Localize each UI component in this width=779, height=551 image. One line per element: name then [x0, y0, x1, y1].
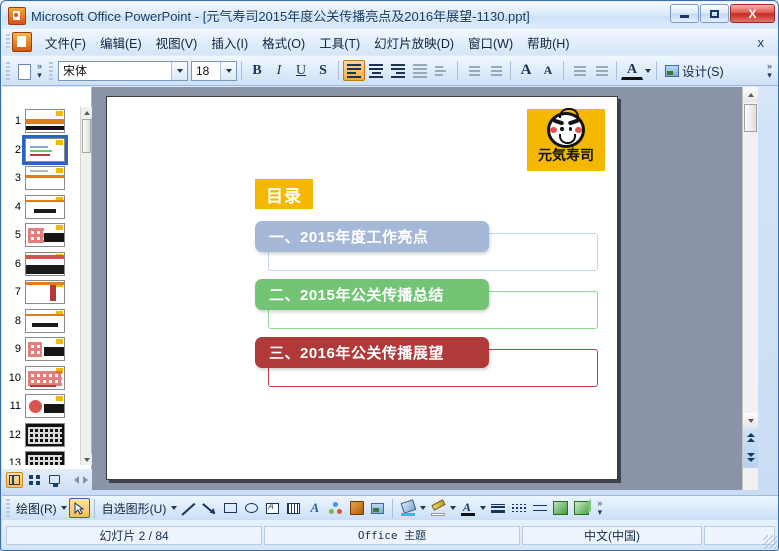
- list-item[interactable]: 8: [2, 307, 80, 336]
- slide-show-button[interactable]: [46, 472, 63, 488]
- list-item[interactable]: 4: [2, 193, 80, 222]
- title-bar: Microsoft Office PowerPoint - [元气寿司2015年…: [2, 2, 779, 29]
- toolbar-overflow-standard-icon[interactable]: »▾: [34, 62, 45, 80]
- menu-item-file[interactable]: 文件(F): [38, 30, 93, 55]
- toolbar-grip-standard[interactable]: [6, 62, 10, 80]
- window-frame: Microsoft Office PowerPoint - [元气寿司2015年…: [0, 0, 779, 551]
- powerpoint-window: Microsoft Office PowerPoint - [元气寿司2015年…: [0, 0, 779, 551]
- divider: [338, 61, 339, 80]
- logo-text: 元気寿司: [538, 149, 594, 163]
- thumbnail-number: 11: [4, 400, 25, 412]
- decrease-font-size-icon[interactable]: A: [537, 60, 559, 81]
- panel-scrollbar[interactable]: [80, 107, 91, 465]
- thumbnail-number: 4: [4, 201, 25, 213]
- thumbnail-image[interactable]: [25, 195, 65, 219]
- wordart-icon[interactable]: A: [304, 498, 325, 518]
- menu-bar: 文件(F) 编辑(E) 视图(V) 插入(I) 格式(O) 工具(T) 幻灯片放…: [2, 29, 779, 55]
- toolbar-grip-formatting[interactable]: [49, 62, 53, 80]
- font-name-dropdown-icon[interactable]: [171, 62, 187, 80]
- font-color-dropdown-icon[interactable]: [643, 69, 652, 73]
- thumbnail-number: 9: [4, 343, 25, 355]
- bold-button[interactable]: B: [246, 60, 268, 81]
- font-size-combo[interactable]: 18: [191, 61, 237, 81]
- slide-vertical-scrollbar[interactable]: [742, 87, 758, 490]
- menu-item-slideshow[interactable]: 幻灯片放映(D): [367, 30, 461, 55]
- font-size-dropdown-icon[interactable]: [220, 62, 236, 80]
- thumbnail-number: 8: [4, 315, 25, 327]
- thumbnail-number: 12: [4, 429, 25, 441]
- design-icon: [665, 65, 679, 77]
- draw-menu-dropdown-icon[interactable]: [60, 506, 69, 510]
- list-item[interactable]: 5: [2, 221, 80, 250]
- list-item[interactable]: 12: [2, 421, 80, 450]
- fill-color-icon[interactable]: [397, 498, 418, 518]
- design-label: 设计(S): [682, 61, 724, 80]
- draw-menu-button[interactable]: 绘图(R): [13, 500, 60, 517]
- slide-navigation-buttons: [743, 428, 758, 468]
- list-item[interactable]: 1: [2, 107, 80, 136]
- toolbar-grip-drawing[interactable]: [6, 499, 10, 517]
- toolbar-overflow-formatting-icon[interactable]: »▾: [764, 62, 775, 80]
- oval-icon[interactable]: [241, 498, 262, 518]
- thumbnail-number: 10: [4, 372, 25, 384]
- diagram-icon[interactable]: [325, 498, 346, 518]
- align-center-icon[interactable]: [365, 60, 387, 81]
- divider: [241, 61, 242, 80]
- list-item[interactable]: 7: [2, 278, 80, 307]
- divider: [563, 61, 564, 80]
- list-item[interactable]: 6: [2, 250, 80, 279]
- justify-icon[interactable]: [409, 60, 431, 81]
- thumbnail-image[interactable]: [25, 394, 65, 418]
- thumbnail-number: 13: [4, 457, 25, 465]
- line-icon[interactable]: [178, 498, 199, 518]
- slide-edit-area[interactable]: 元気寿司 目录 一、2015年度工作亮点 二、2015年公关传播总结 三、201…: [92, 87, 742, 490]
- close-document-button[interactable]: x: [752, 33, 771, 52]
- autoshapes-menu-button[interactable]: 自选图形(U): [99, 500, 170, 517]
- thumbnail-image[interactable]: [25, 337, 65, 361]
- drawing-font-color-icon[interactable]: A: [457, 498, 478, 518]
- divider: [656, 61, 657, 80]
- company-logo[interactable]: 元気寿司: [527, 109, 605, 171]
- slide-canvas[interactable]: 元気寿司 目录 一、2015年度工作亮点 二、2015年公关传播总结 三、201…: [106, 96, 618, 480]
- slide-sorter-view-button[interactable]: [26, 472, 43, 488]
- divider: [94, 499, 95, 518]
- divider: [510, 61, 511, 80]
- menu-item-tools[interactable]: 工具(T): [312, 30, 367, 55]
- menu-grip[interactable]: [6, 34, 10, 50]
- thumbnail-image[interactable]: [25, 223, 65, 247]
- line-color-dropdown-icon[interactable]: [448, 506, 457, 510]
- list-item[interactable]: 10: [2, 364, 80, 393]
- drawing-toolbar: 绘图(R) 自选图形(U) A A »▾: [2, 495, 779, 520]
- normal-view-button[interactable]: [6, 472, 23, 488]
- thumbnail-image[interactable]: [25, 280, 65, 304]
- thumbnail-number: 6: [4, 258, 25, 270]
- maximize-button[interactable]: [700, 4, 729, 23]
- powerpoint-app-icon: [8, 7, 26, 25]
- menu-item-help[interactable]: 帮助(H): [520, 30, 576, 55]
- previous-slide-icon[interactable]: [746, 433, 756, 443]
- text-shadow-button[interactable]: S: [312, 60, 334, 81]
- resize-grip[interactable]: [763, 535, 777, 549]
- slide-counter: 幻灯片 2 / 84: [6, 526, 262, 545]
- next-slide-icon[interactable]: [746, 453, 756, 463]
- cursor-arrow-icon: [74, 502, 84, 515]
- line-spacing-icon[interactable]: [431, 60, 453, 81]
- status-bar: 幻灯片 2 / 84 Office 主题 中文(中国): [2, 520, 779, 550]
- thumbnail-number: 5: [4, 229, 25, 241]
- vertical-text-box-icon[interactable]: [283, 498, 304, 518]
- thumbnail-image[interactable]: [25, 309, 65, 333]
- bulleted-list-icon[interactable]: [484, 60, 506, 81]
- window-title: Microsoft Office PowerPoint - [元气寿司2015年…: [31, 6, 530, 25]
- toc-item-3-label[interactable]: 三、2016年公关传播展望: [255, 337, 489, 368]
- align-left-icon[interactable]: [343, 60, 365, 81]
- rectangle-icon[interactable]: [220, 498, 241, 518]
- close-button[interactable]: X: [730, 4, 775, 23]
- insert-picture-icon[interactable]: [367, 498, 388, 518]
- thumbnail-number: 2: [4, 144, 25, 156]
- menu-item-format[interactable]: 格式(O): [255, 30, 312, 55]
- line-style-icon[interactable]: [487, 498, 508, 518]
- scroll-right-icon[interactable]: [83, 476, 88, 484]
- thumbnail-image[interactable]: [25, 109, 65, 133]
- three-d-style-icon[interactable]: [571, 498, 592, 518]
- thumbnail-number: 1: [4, 115, 25, 127]
- formatting-toolbar: »▾ 宋体 18 B I U S: [2, 56, 779, 86]
- align-right-icon[interactable]: [387, 60, 409, 81]
- new-document-icon[interactable]: [13, 61, 33, 81]
- slide-design-button[interactable]: 设计(S): [661, 59, 728, 82]
- font-size-value: 18: [192, 64, 220, 78]
- dash-style-icon[interactable]: [508, 498, 529, 518]
- thumbnail-image[interactable]: [25, 166, 65, 190]
- list-item[interactable]: 3: [2, 164, 80, 193]
- decrease-indent-icon[interactable]: [568, 60, 590, 81]
- increase-font-size-icon[interactable]: A: [515, 60, 537, 81]
- divider: [457, 61, 458, 80]
- menu-item-window[interactable]: 窗口(W): [461, 30, 520, 55]
- clip-art-icon[interactable]: [346, 498, 367, 518]
- list-item[interactable]: 13: [2, 449, 80, 465]
- thumbnail-image[interactable]: [25, 252, 65, 276]
- toc-item-2-label[interactable]: 二、2015年公关传播总结: [255, 279, 489, 310]
- thumbnail-image[interactable]: [25, 366, 65, 390]
- font-name-combo[interactable]: 宋体: [58, 61, 188, 81]
- thumbnail-image[interactable]: [25, 451, 65, 465]
- document-icon: [12, 32, 32, 52]
- scroll-left-icon[interactable]: [74, 476, 79, 484]
- minimize-button[interactable]: [670, 4, 699, 23]
- underline-button[interactable]: U: [290, 60, 312, 81]
- toc-item-1-label[interactable]: 一、2015年度工作亮点: [255, 221, 489, 252]
- panel-scroll-up-icon[interactable]: [81, 107, 92, 118]
- divider: [616, 61, 617, 80]
- mascot-face-icon: [547, 112, 585, 148]
- italic-button[interactable]: I: [268, 60, 290, 81]
- list-item[interactable]: 2: [2, 136, 80, 165]
- autoshapes-dropdown-icon[interactable]: [169, 506, 178, 510]
- list-item[interactable]: 9: [2, 335, 80, 364]
- scroll-down-icon[interactable]: [743, 413, 758, 428]
- thumbnail-list: 1 2 3 4 5 6 7 8: [2, 107, 80, 465]
- arrow-style-icon[interactable]: [529, 498, 550, 518]
- font-color-icon[interactable]: A: [621, 62, 643, 80]
- drawing-font-color-dropdown-icon[interactable]: [478, 506, 487, 510]
- fill-color-dropdown-icon[interactable]: [418, 506, 427, 510]
- menu-item-view[interactable]: 视图(V): [149, 30, 205, 55]
- select-objects-icon[interactable]: [69, 498, 90, 518]
- thumbnail-number: 7: [4, 286, 25, 298]
- menu-item-insert[interactable]: 插入(I): [204, 30, 255, 55]
- thumbnail-number: 3: [4, 172, 25, 184]
- line-color-icon[interactable]: [427, 498, 448, 518]
- thumbnail-image[interactable]: [25, 423, 65, 447]
- language-indicator[interactable]: 中文(中国): [522, 526, 702, 545]
- panel-horizontal-scroll: [74, 476, 92, 484]
- theme-name[interactable]: Office 主题: [264, 526, 520, 545]
- toolbar-overflow-drawing-icon[interactable]: »▾: [594, 499, 605, 517]
- numbered-list-icon[interactable]: [462, 60, 484, 81]
- list-item[interactable]: 11: [2, 392, 80, 421]
- divider: [392, 499, 393, 518]
- thumbnail-image-selected[interactable]: [25, 138, 65, 162]
- window-controls: X: [670, 4, 775, 23]
- view-buttons-bar: [2, 469, 92, 490]
- menu-item-edit[interactable]: 编辑(E): [93, 30, 149, 55]
- font-name-value: 宋体: [59, 62, 171, 79]
- panel-scroll-thumb[interactable]: [82, 119, 91, 153]
- toc-title-badge[interactable]: 目录: [255, 179, 313, 209]
- shadow-style-icon[interactable]: [550, 498, 571, 518]
- panel-scroll-down-icon[interactable]: [81, 454, 92, 465]
- increase-indent-icon[interactable]: [590, 60, 612, 81]
- text-box-icon[interactable]: [262, 498, 283, 518]
- arrow-icon[interactable]: [199, 498, 220, 518]
- scroll-up-icon[interactable]: [743, 87, 758, 102]
- vertical-scroll-thumb[interactable]: [744, 104, 757, 132]
